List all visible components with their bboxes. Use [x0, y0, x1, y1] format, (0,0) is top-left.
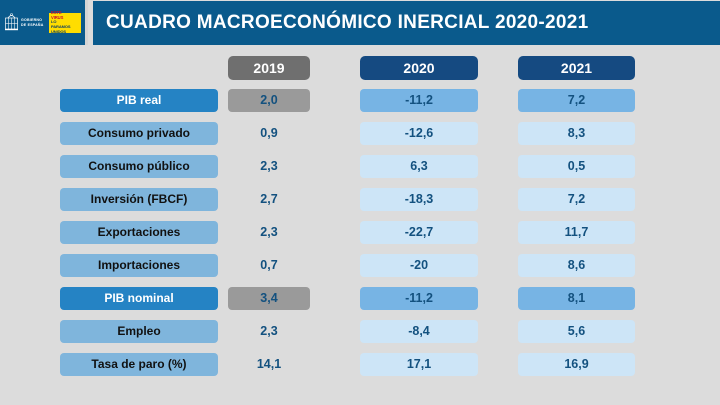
- cell-2021: 8,6: [518, 254, 635, 277]
- table-row: Importaciones0,7-208,6: [0, 253, 720, 277]
- coat-of-arms-group: GOBIERNO DE ESPAÑA: [4, 13, 44, 33]
- cell-2021: 7,2: [518, 89, 635, 112]
- macro-table: 2019 2020 2021 PIB real2,0-11,27,2Consum…: [0, 55, 720, 385]
- column-header-2019: 2019: [228, 56, 310, 80]
- cell-2021: 8,3: [518, 122, 635, 145]
- table-row: PIB nominal3,4-11,28,1: [0, 286, 720, 310]
- cell-2019: 2,3: [228, 320, 310, 343]
- cell-2020: -12,6: [360, 122, 478, 145]
- spain-coat-of-arms-icon: [4, 13, 19, 33]
- row-label: Importaciones: [60, 254, 218, 277]
- page-header: GOBIERNO DE ESPAÑA ESTE VIRUS LO PARAMOS…: [0, 0, 720, 47]
- cell-2019: 14,1: [228, 353, 310, 376]
- row-label: PIB nominal: [60, 287, 218, 310]
- table-row: Tasa de paro (%)14,117,116,9: [0, 352, 720, 376]
- cell-2019: 2,7: [228, 188, 310, 211]
- government-wordmark: GOBIERNO DE ESPAÑA: [21, 18, 44, 26]
- table-row: Inversión (FBCF)2,7-18,37,2: [0, 187, 720, 211]
- cell-2021: 5,6: [518, 320, 635, 343]
- table-row: Empleo2,3-8,45,6: [0, 319, 720, 343]
- cell-2020: -11,2: [360, 89, 478, 112]
- table-row: PIB real2,0-11,27,2: [0, 88, 720, 112]
- row-label: Tasa de paro (%): [60, 353, 218, 376]
- table-header-row: 2019 2020 2021: [0, 55, 720, 80]
- cell-2020: 17,1: [360, 353, 478, 376]
- page-title: CUADRO MACROECONÓMICO INERCIAL 2020-2021: [93, 12, 589, 34]
- espana-line: DE ESPAÑA: [21, 23, 44, 27]
- cell-2020: -8,4: [360, 320, 478, 343]
- column-header-2021: 2021: [518, 56, 635, 80]
- table-row: Exportaciones2,3-22,711,7: [0, 220, 720, 244]
- campaign-badge-icon: ESTE VIRUS LO PARAMOS UNIDOS: [49, 13, 81, 33]
- cell-2021: 0,5: [518, 155, 635, 178]
- table-body: PIB real2,0-11,27,2Consumo privado0,9-12…: [0, 88, 720, 376]
- title-bar: CUADRO MACROECONÓMICO INERCIAL 2020-2021: [93, 1, 720, 45]
- table-row: Consumo público2,36,30,5: [0, 154, 720, 178]
- row-label: Exportaciones: [60, 221, 218, 244]
- row-label: Empleo: [60, 320, 218, 343]
- cell-2020: -22,7: [360, 221, 478, 244]
- cell-2019: 2,3: [228, 221, 310, 244]
- column-header-2020: 2020: [360, 56, 478, 80]
- cell-2020: -11,2: [360, 287, 478, 310]
- cell-2019: 3,4: [228, 287, 310, 310]
- government-logo: GOBIERNO DE ESPAÑA ESTE VIRUS LO PARAMOS…: [0, 0, 88, 45]
- table-row: Consumo privado0,9-12,68,3: [0, 121, 720, 145]
- cell-2019: 2,3: [228, 155, 310, 178]
- cell-2019: 0,7: [228, 254, 310, 277]
- cell-2020: -18,3: [360, 188, 478, 211]
- cell-2021: 16,9: [518, 353, 635, 376]
- cell-2021: 7,2: [518, 188, 635, 211]
- cell-2021: 11,7: [518, 221, 635, 244]
- cell-2019: 0,9: [228, 122, 310, 145]
- row-label: Consumo público: [60, 155, 218, 178]
- row-label: Inversión (FBCF): [60, 188, 218, 211]
- cell-2021: 8,1: [518, 287, 635, 310]
- cell-2019: 2,0: [228, 89, 310, 112]
- cell-2020: -20: [360, 254, 478, 277]
- campaign-line-5: UNIDOS: [51, 30, 66, 35]
- row-label: PIB real: [60, 89, 218, 112]
- row-label: Consumo privado: [60, 122, 218, 145]
- cell-2020: 6,3: [360, 155, 478, 178]
